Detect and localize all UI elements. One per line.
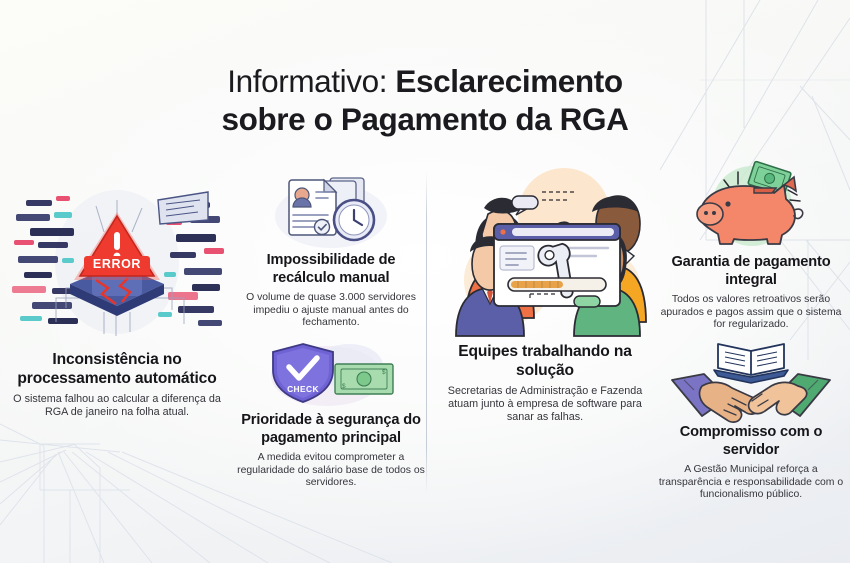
svg-text:$: $ xyxy=(382,369,386,376)
card-recalculo: Impossibilidade de recálculo manual O vo… xyxy=(238,176,424,330)
documents-clock-icon xyxy=(238,176,424,246)
card-heading: Impossibilidade de recálculo manual xyxy=(238,252,424,287)
shield-check-label: CHECK xyxy=(287,384,319,394)
card-body: A Gestão Municipal reforça a transparênc… xyxy=(658,464,844,502)
card-compromisso: Compromisso com o servidor A Gestão Muni… xyxy=(658,336,844,502)
card-equipes: Equipes trabalhando na solução Secretari… xyxy=(446,168,644,425)
title-emphasis: Esclarecimento xyxy=(395,63,622,99)
title-line-1: Informativo: Esclarecimento xyxy=(0,62,850,100)
title-subject: sobre o Pagamento da RGA xyxy=(222,101,629,137)
shield-check-money-icon: $ $ CHECK xyxy=(231,336,431,406)
card-body: Todos os valores retroativos serão apura… xyxy=(656,294,846,332)
svg-text:$: $ xyxy=(342,383,346,390)
card-body: O volume de quase 3.000 servidores imped… xyxy=(238,292,424,330)
error-chip-label: ERROR xyxy=(93,257,141,271)
card-body: Secretarias de Administração e Fazenda a… xyxy=(446,385,644,425)
error-chip-icon: ERROR xyxy=(8,176,226,344)
card-heading: Equipes trabalhando na solução xyxy=(446,342,644,380)
card-heading: Prioridade à segurança do pagamento prin… xyxy=(231,412,431,447)
card-inconsistencia: ERROR Inconsistência no processamento au… xyxy=(8,176,226,419)
piggy-bank-money-icon xyxy=(656,164,846,248)
title-prefix: Informativo: xyxy=(227,63,387,99)
card-body: A medida evitou comprometer a regularida… xyxy=(231,452,431,490)
card-garantia: Garantia de pagamento integral Todos os … xyxy=(656,164,846,332)
page-title: Informativo: Esclarecimento sobre o Paga… xyxy=(0,62,850,138)
card-heading: Compromisso com o servidor xyxy=(658,424,844,459)
title-line-2: sobre o Pagamento da RGA xyxy=(0,100,850,138)
card-heading: Inconsistência no processamento automáti… xyxy=(8,350,226,388)
card-heading: Garantia de pagamento integral xyxy=(656,254,846,289)
team-browser-wrench-icon xyxy=(446,168,644,336)
card-prioridade: $ $ CHECK Prioridade à segurança do paga… xyxy=(231,336,431,490)
handshake-book-icon xyxy=(658,336,844,418)
card-body: O sistema falhou ao calcular a diferença… xyxy=(8,393,226,419)
